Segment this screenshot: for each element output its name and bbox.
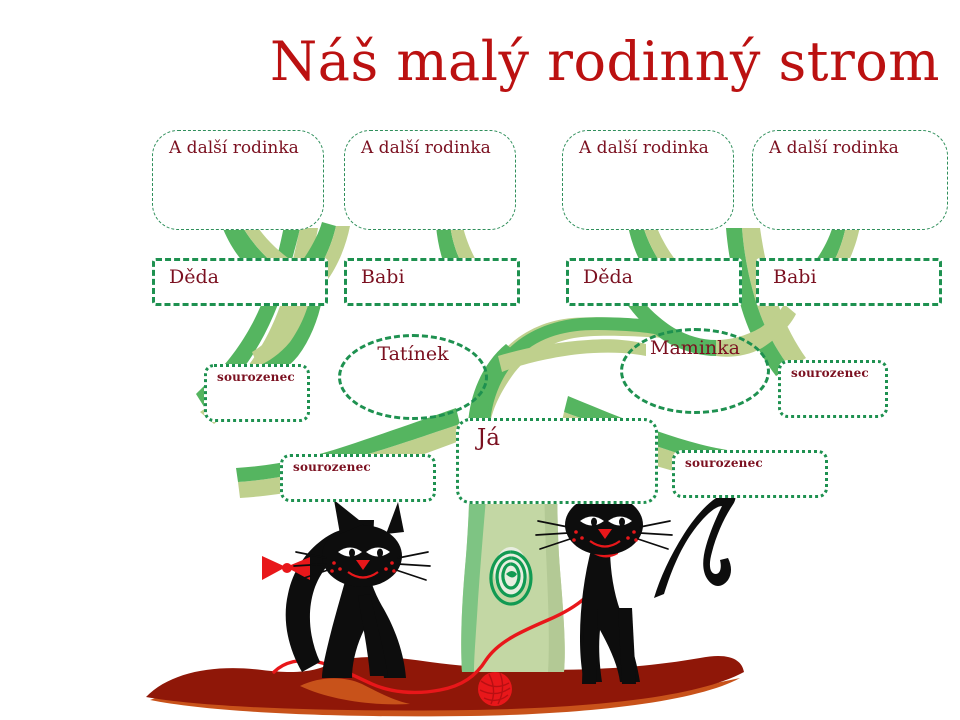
grandmother-maternal-label: Babi bbox=[773, 266, 817, 288]
grandmother-maternal-box[interactable]: Babi bbox=[756, 258, 942, 306]
page-title: Náš malý rodinný strom bbox=[250, 34, 940, 91]
extended-family-box-2[interactable]: A další rodinka bbox=[344, 130, 516, 230]
sibling-label-left-upper: sourozenec bbox=[217, 370, 295, 384]
grandfather-maternal-box[interactable]: Děda bbox=[566, 258, 742, 306]
sibling-label-right-upper: sourozenec bbox=[791, 366, 869, 380]
sibling-box-right-lower[interactable]: sourozenec bbox=[672, 450, 828, 498]
worksheet-canvas: Náš malý rodinný strom A další rodinka A… bbox=[0, 0, 960, 720]
mother-oval[interactable]: Maminka bbox=[620, 328, 770, 414]
self-label: Já bbox=[477, 425, 500, 451]
father-oval[interactable]: Tatínek bbox=[338, 334, 488, 420]
extended-family-label-3: A další rodinka bbox=[579, 138, 709, 158]
extended-family-box-1[interactable]: A další rodinka bbox=[152, 130, 324, 230]
sibling-box-right-upper[interactable]: sourozenec bbox=[778, 360, 888, 418]
extended-family-box-3[interactable]: A další rodinka bbox=[562, 130, 734, 230]
sibling-label-right-lower: sourozenec bbox=[685, 456, 763, 470]
grandfather-paternal-label: Děda bbox=[169, 266, 219, 288]
father-label: Tatínek bbox=[341, 343, 485, 365]
mother-label: Maminka bbox=[623, 337, 767, 359]
sibling-label-left-lower: sourozenec bbox=[293, 460, 371, 474]
extended-family-label-4: A další rodinka bbox=[769, 138, 899, 158]
sibling-box-left-upper[interactable]: sourozenec bbox=[204, 364, 310, 422]
extended-family-label-1: A další rodinka bbox=[169, 138, 299, 158]
self-box[interactable]: Já bbox=[456, 418, 658, 504]
extended-family-label-2: A další rodinka bbox=[361, 138, 491, 158]
grandmother-paternal-box[interactable]: Babi bbox=[344, 258, 520, 306]
grandfather-maternal-label: Děda bbox=[583, 266, 633, 288]
label-boxes-layer: Náš malý rodinný strom A další rodinka A… bbox=[0, 0, 960, 720]
grandfather-paternal-box[interactable]: Děda bbox=[152, 258, 328, 306]
extended-family-box-4[interactable]: A další rodinka bbox=[752, 130, 948, 230]
grandmother-paternal-label: Babi bbox=[361, 266, 405, 288]
sibling-box-left-lower[interactable]: sourozenec bbox=[280, 454, 436, 502]
